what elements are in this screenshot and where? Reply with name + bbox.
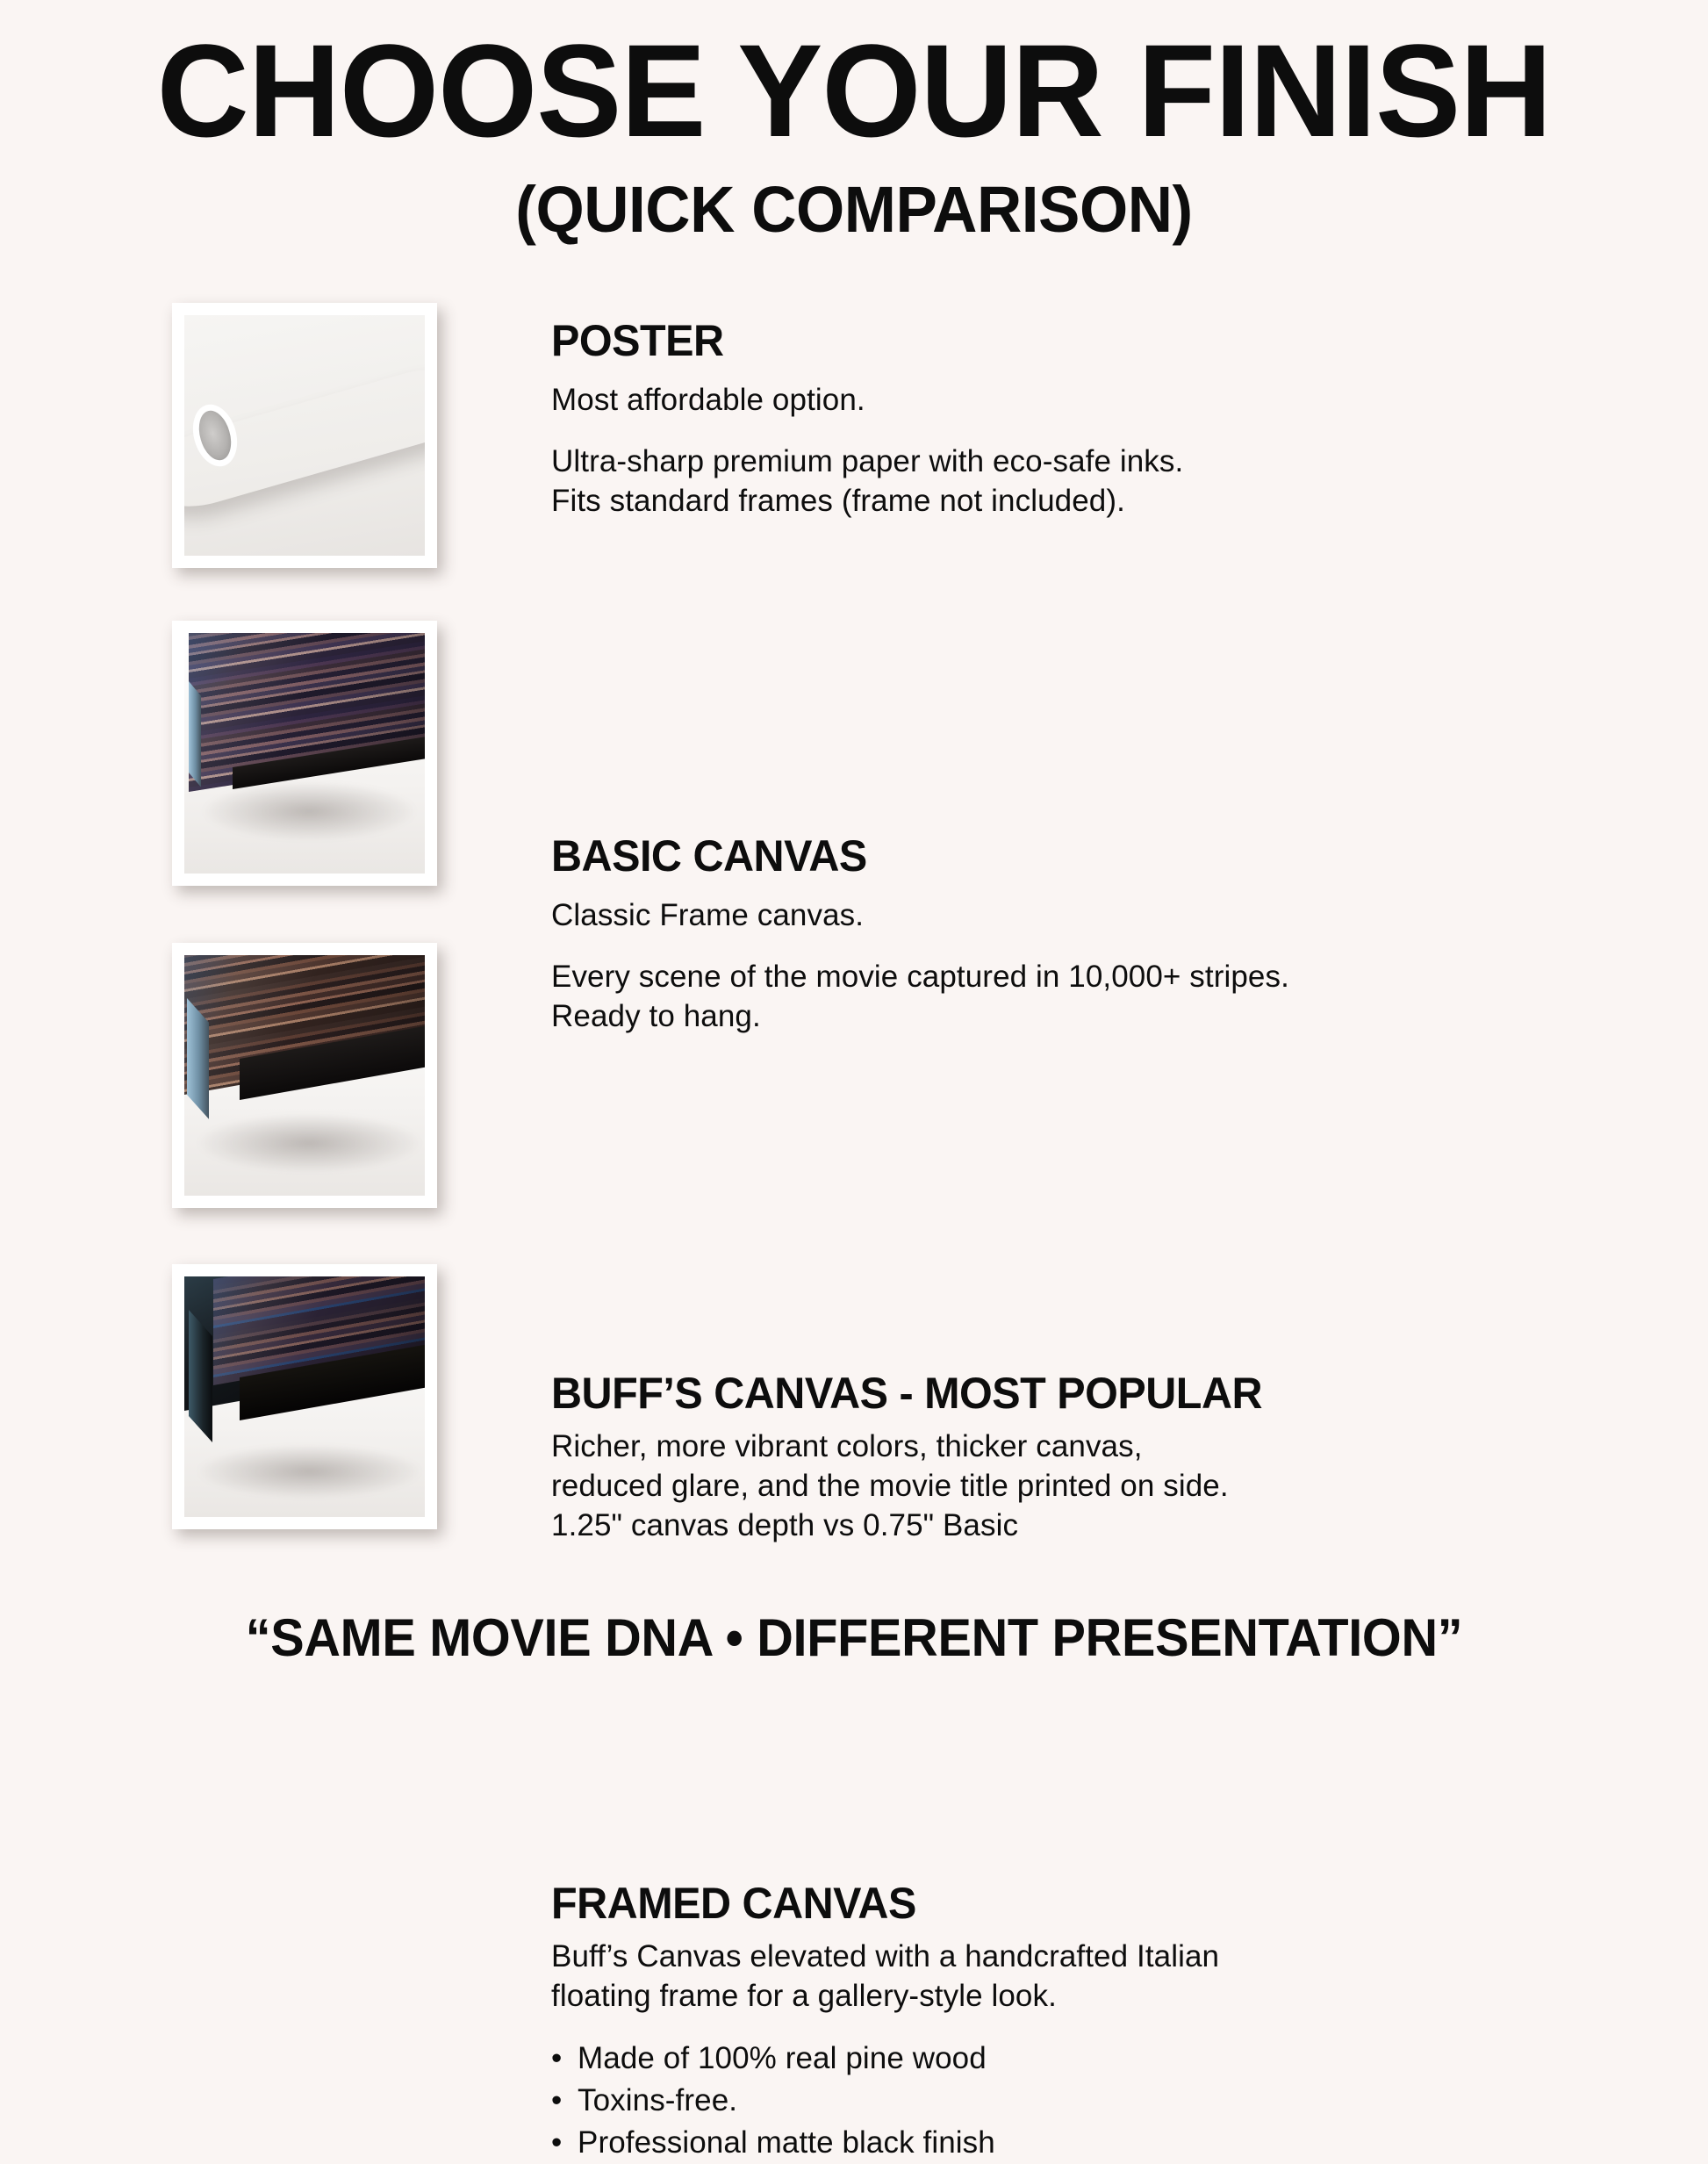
option-row-poster: POSTER Most affordable option. Ultra-sha… [0,292,1708,582]
poster-photo [184,315,425,556]
option-row-buffs-canvas: BUFF’S CANVAS - MOST POPULAR Richer, mor… [0,932,1708,1222]
basic-canvas-side-edge [189,681,201,787]
option-detail-poster: Ultra-sharp premium paper with eco-safe … [551,442,1631,521]
poster-detail-line-2: Fits standard frames (frame not included… [551,484,1125,518]
buffs-canvas-scene [184,955,425,1196]
basic-canvas-image-card [172,621,437,886]
option-heading-basic-canvas: BASIC CANVAS [551,834,1598,878]
basic-canvas-photo [184,633,425,874]
option-heading-framed-canvas: FRAMED CANVAS [551,1881,1598,1925]
bullet-marker-icon: • [551,2038,562,2080]
option-row-basic-canvas: BASIC CANVAS Classic Frame canvas. Every… [0,610,1708,900]
option-row-framed-canvas: FRAMED CANVAS Buff’s Canvas elevated wit… [0,1254,1708,1543]
list-item: • Toxins-free. [551,2080,1631,2122]
footer-tagline: “SAME MOVIE DNA • DIFFERENT PRESENTATION… [34,1607,1674,1668]
option-lead-poster: Most affordable option. [551,382,1631,418]
framed-canvas-photo [184,1276,425,1517]
list-item: • Professional matte black finish [551,2122,1631,2164]
bullet-text: Made of 100% real pine wood [578,2041,987,2075]
option-heading-poster: POSTER [551,319,1598,363]
framed-canvas-bullet-list: • Made of 100% real pine wood • Toxins-f… [551,2038,1631,2164]
poster-roll-scene [184,315,425,556]
poster-text-column: POSTER Most affordable option. Ultra-sha… [551,319,1631,521]
option-detail-framed-canvas: Buff’s Canvas elevated with a handcrafte… [551,1938,1631,2017]
framed-canvas-text-column: FRAMED CANVAS Buff’s Canvas elevated wit… [551,1881,1631,2164]
page-subtitle: (QUICK COMPARISON) [34,176,1674,244]
framed-canvas-detail-line-2: floating frame for a gallery-style look. [551,1979,1057,2013]
buffs-canvas-photo [184,955,425,1196]
buffs-canvas-image-card [172,943,437,1208]
footer: “SAME MOVIE DNA • DIFFERENT PRESENTATION… [0,1607,1708,1668]
poster-image-card [172,303,437,568]
finish-comparison-infographic: CHOOSE YOUR FINISH (QUICK COMPARISON) PO… [0,0,1708,1708]
poster-detail-line-1: Ultra-sharp premium paper with eco-safe … [551,444,1183,478]
framed-canvas-scene [184,1276,425,1517]
bullet-marker-icon: • [551,2080,562,2122]
bullet-text: Toxins-free. [578,2083,737,2117]
buffs-canvas-shadow [198,1114,420,1172]
basic-canvas-shadow [204,782,415,840]
framed-canvas-detail-line-1: Buff’s Canvas elevated with a handcrafte… [551,1939,1219,1973]
bullet-marker-icon: • [551,2122,562,2164]
basic-canvas-scene [184,633,425,874]
list-item: • Made of 100% real pine wood [551,2038,1631,2080]
framed-canvas-shadow [198,1445,420,1498]
header: CHOOSE YOUR FINISH (QUICK COMPARISON) [0,25,1708,244]
option-lead-basic-canvas: Classic Frame canvas. [551,897,1631,933]
bullet-text: Professional matte black finish [578,2125,995,2160]
framed-canvas-image-card [172,1264,437,1529]
page-title: CHOOSE YOUR FINISH [25,25,1683,156]
